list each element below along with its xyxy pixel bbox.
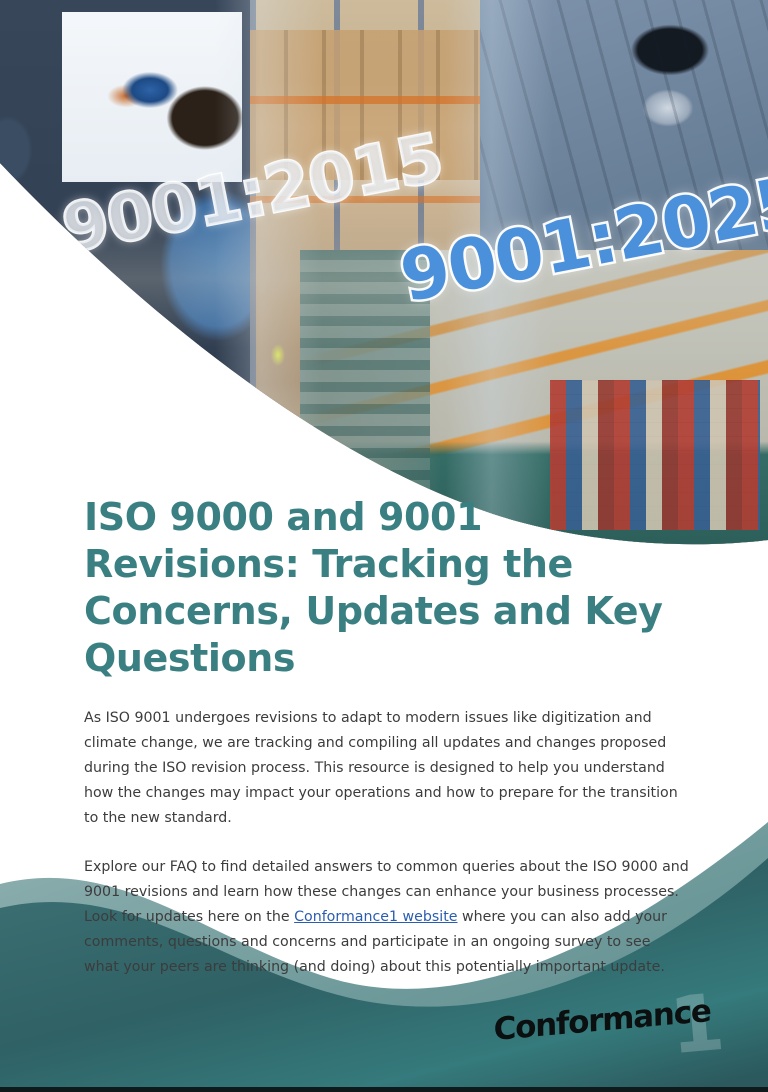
hero-banner: 9001:2015 9001:2025 [0, 0, 768, 580]
faq-paragraph: Explore our FAQ to find detailed answers… [84, 855, 689, 980]
intro-paragraph: As ISO 9001 undergoes revisions to adapt… [84, 706, 689, 831]
conformance1-website-link[interactable]: Conformance1 website [294, 909, 457, 925]
conformance1-logo[interactable]: 1 Conformance [486, 990, 726, 1066]
footer-bottom-bar [0, 1087, 768, 1092]
hero-image-collage: 9001:2015 9001:2025 [0, 0, 768, 580]
main-content: ISO 9000 and 9001 Revisions: Tracking th… [84, 494, 692, 1004]
page-title: ISO 9000 and 9001 Revisions: Tracking th… [84, 494, 664, 682]
